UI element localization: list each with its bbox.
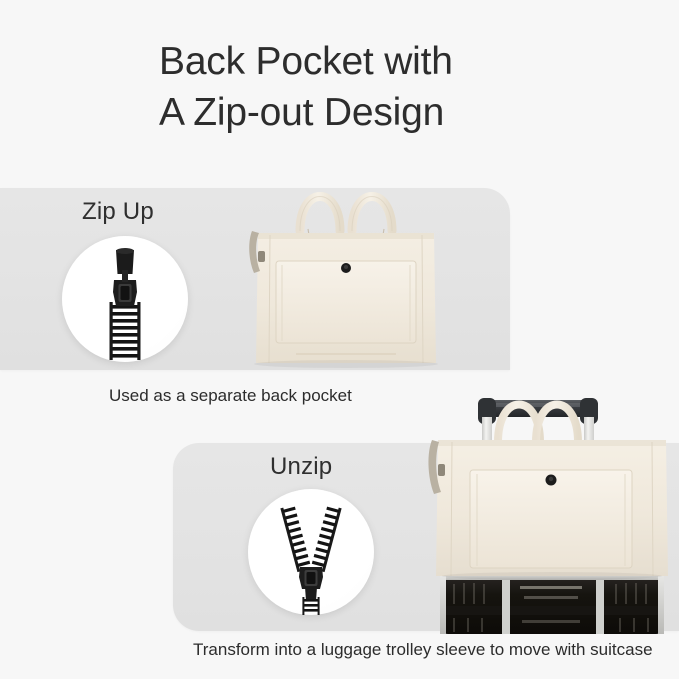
zipper-open-badge	[248, 489, 374, 615]
suitcase	[440, 574, 664, 634]
infographic-stage: Back Pocket with A Zip-out Design Zip Up	[0, 0, 679, 679]
step-label-unzip: Unzip	[270, 453, 332, 481]
zipper-closed-icon	[62, 236, 188, 362]
zipper-open-icon	[248, 489, 374, 615]
page-title: Back Pocket with A Zip-out Design	[159, 36, 579, 138]
step-label-zip-up: Zip Up	[82, 198, 154, 226]
tote-bag-on-luggage-trolley-photo	[424, 384, 679, 634]
title-line-2: A Zip-out Design	[159, 87, 579, 138]
caption-unzip: Transform into a luggage trolley sleeve …	[193, 640, 653, 660]
zipper-closed-badge	[62, 236, 188, 362]
tote-bag-with-back-pocket-photo	[236, 167, 456, 370]
caption-zip-up: Used as a separate back pocket	[109, 386, 352, 406]
title-line-1: Back Pocket with	[159, 36, 579, 87]
